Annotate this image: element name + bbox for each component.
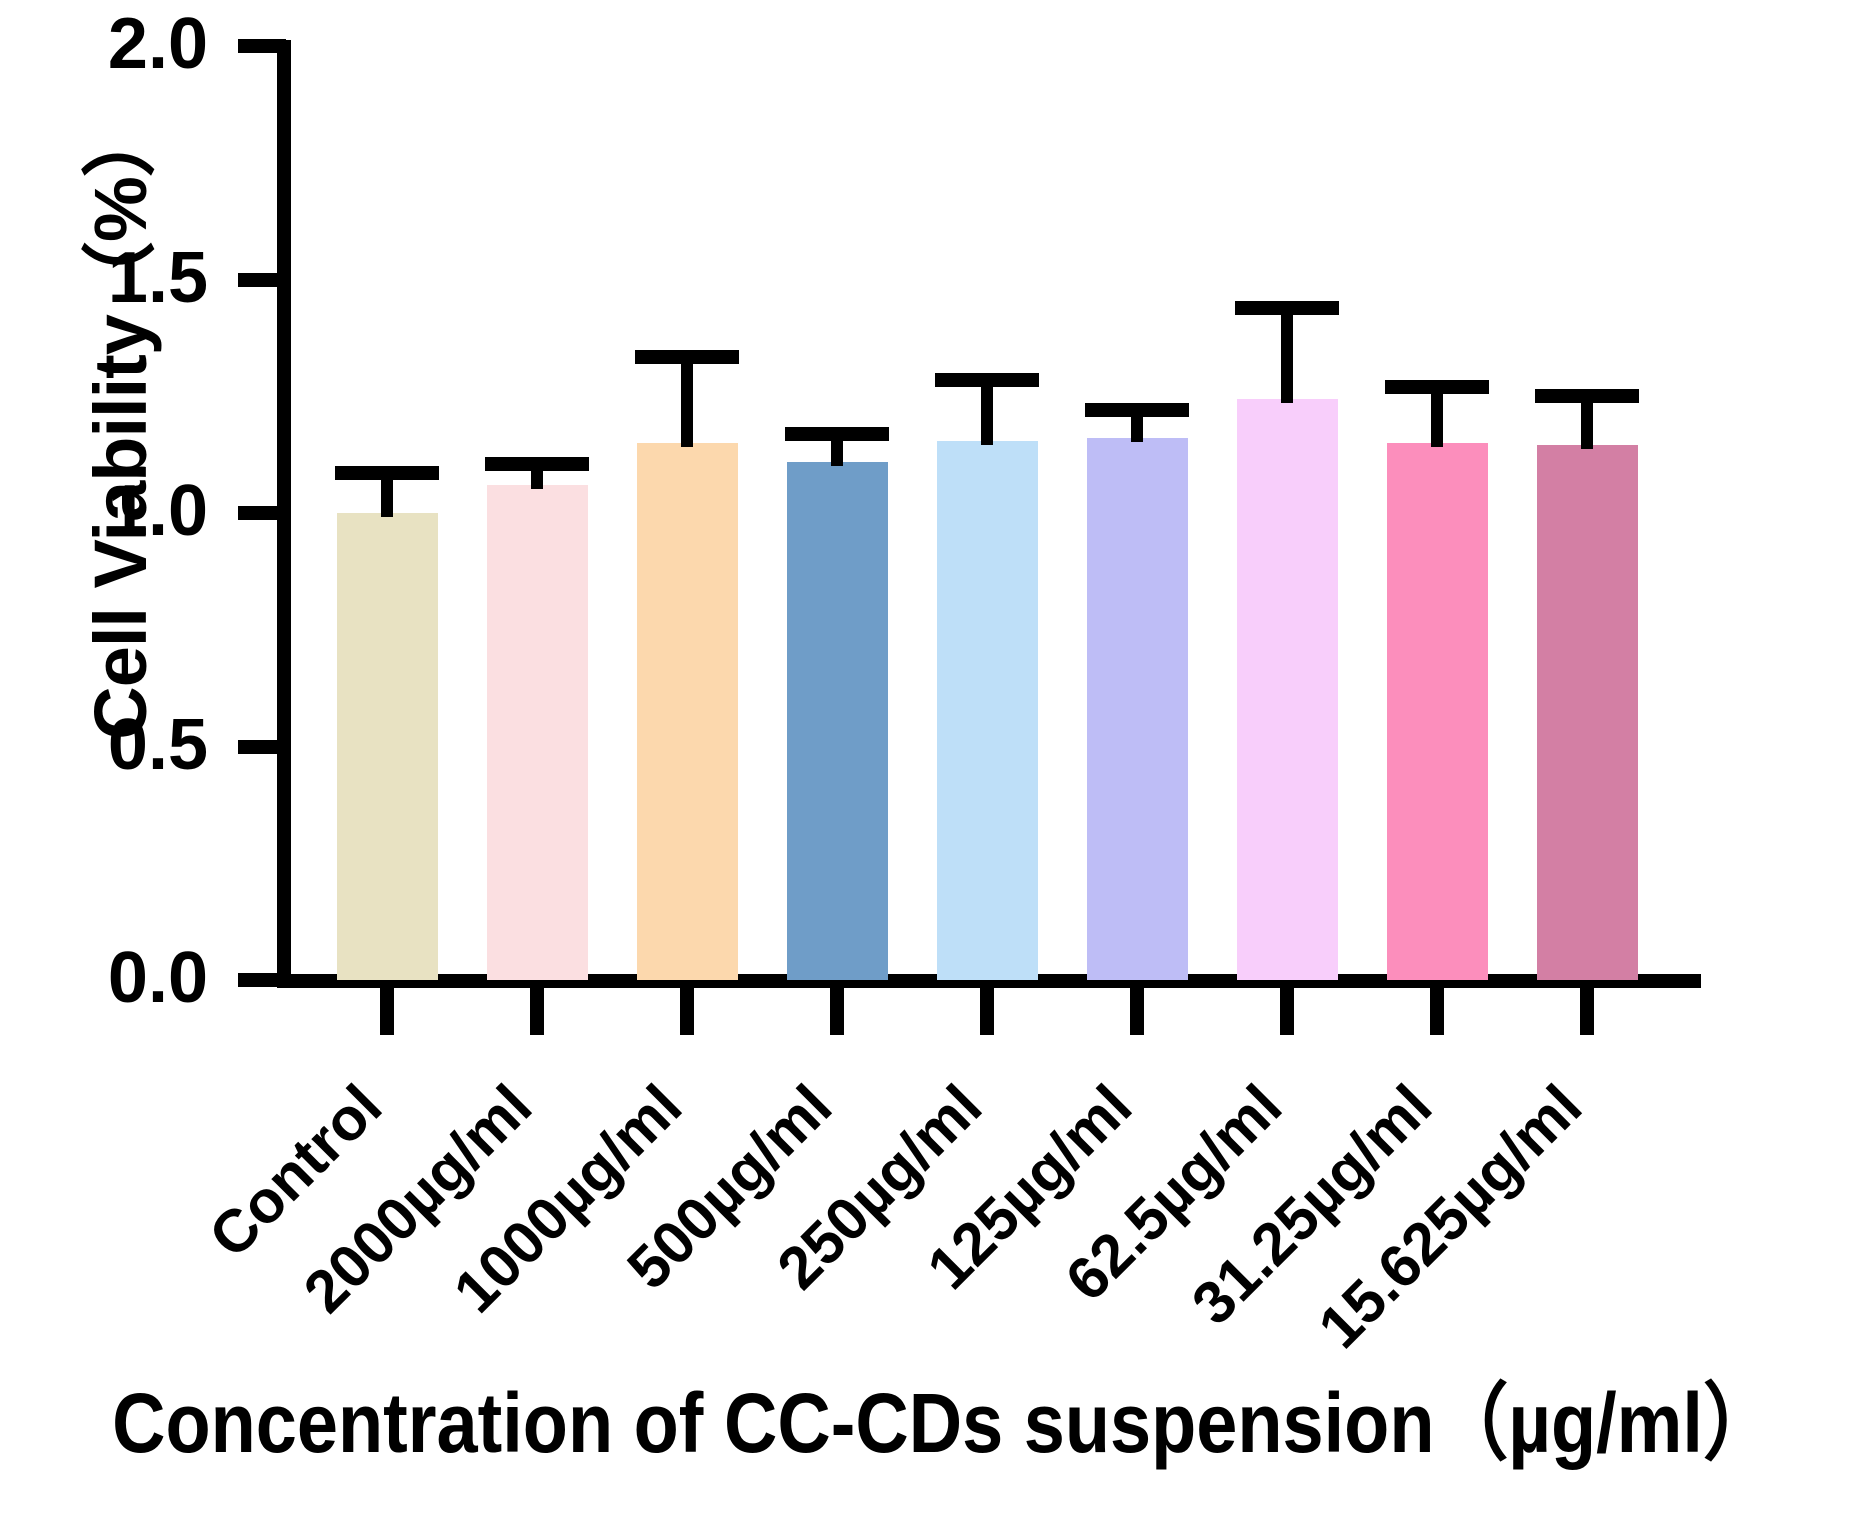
bar: [637, 443, 738, 980]
x-tick-mark: [380, 988, 394, 1035]
x-tick-mark: [830, 988, 844, 1035]
error-bar-cap: [1385, 380, 1489, 394]
x-tick-mark: [1130, 988, 1144, 1035]
error-bar-stem: [681, 350, 693, 447]
x-tick-mark: [530, 988, 544, 1035]
x-tick-mark: [1580, 988, 1594, 1035]
bar: [337, 513, 438, 980]
plot-area: Control2000µg/ml1000µg/ml500µg/ml250µg/m…: [0, 0, 1868, 1514]
x-axis-title: Concentration of CC-CDs suspension（µg/ml…: [112, 1356, 1756, 1477]
error-bar-cap: [1535, 389, 1639, 403]
x-tick-mark: [1430, 988, 1444, 1035]
bar: [1387, 443, 1488, 980]
bar: [787, 462, 888, 980]
bar: [1237, 399, 1338, 980]
error-bar-cap: [1235, 301, 1339, 315]
error-bar-cap: [1085, 403, 1189, 417]
chart-canvas: Cell Viability（%） 0.00.51.01.52.0 Contro…: [0, 0, 1868, 1514]
error-bar-stem: [1281, 301, 1293, 403]
error-bar-cap: [935, 373, 1039, 387]
error-bar-cap: [635, 350, 739, 364]
error-bar-cap: [485, 457, 589, 471]
bar: [1537, 445, 1638, 980]
x-tick-mark: [980, 988, 994, 1035]
error-bar-cap: [785, 427, 889, 441]
bar: [487, 485, 588, 980]
bar: [1087, 438, 1188, 980]
error-bar-cap: [335, 466, 439, 480]
bar: [937, 441, 1038, 980]
x-tick-mark: [1280, 988, 1294, 1035]
x-tick-mark: [680, 988, 694, 1035]
